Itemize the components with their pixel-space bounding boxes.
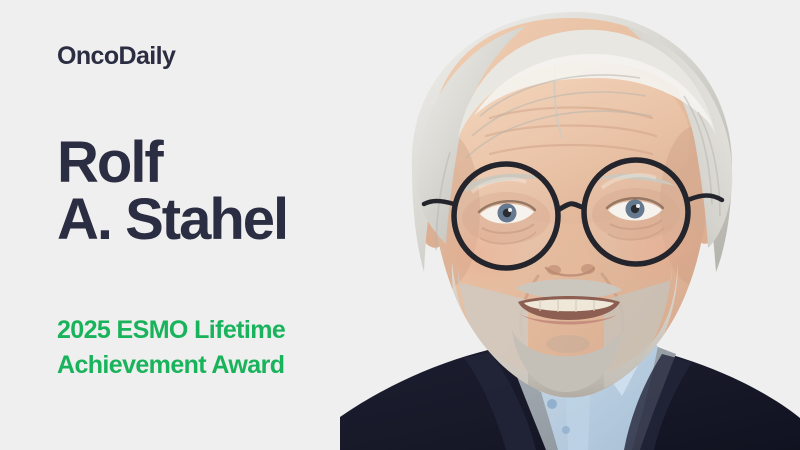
text-column: OncoDaily Rolf A. Stahel 2025 ESMO Lifet…: [57, 0, 387, 450]
lens-glare-right: [587, 163, 685, 261]
shirt-pattern-dot: [547, 399, 557, 409]
headline-line-1: Rolf: [57, 134, 287, 191]
award-subtitle: 2025 ESMO Lifetime Achievement Award: [57, 313, 285, 382]
chin-crease: [546, 335, 590, 353]
nostril-left: [547, 265, 561, 275]
headline-line-2: A. Stahel: [57, 191, 287, 248]
award-line-2: Achievement Award: [57, 348, 285, 383]
lens-glare-left: [457, 167, 555, 265]
nostril-right: [581, 264, 595, 274]
shirt-pattern-dot: [562, 426, 570, 434]
portrait-photo: [340, 0, 800, 450]
brand-logo[interactable]: OncoDaily: [57, 44, 175, 69]
portrait-illustration: [340, 0, 800, 450]
announcement-card: OncoDaily Rolf A. Stahel 2025 ESMO Lifet…: [0, 0, 800, 450]
page-title: Rolf A. Stahel: [57, 134, 287, 249]
award-line-1: 2025 ESMO Lifetime: [57, 313, 285, 348]
